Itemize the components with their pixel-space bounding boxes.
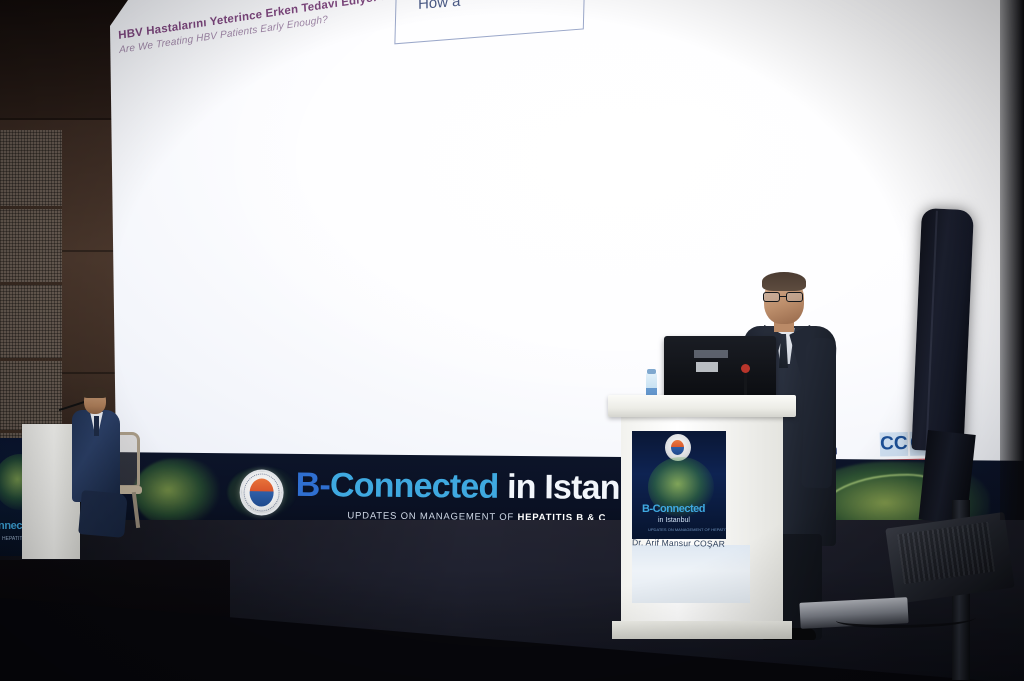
glasses-bridge xyxy=(780,296,787,297)
banner-title-b: B- xyxy=(296,466,331,504)
lectern-base xyxy=(612,621,792,639)
presenter-arm xyxy=(801,338,836,489)
monitor-rear-label xyxy=(694,350,728,358)
emblem-ring xyxy=(243,473,279,511)
water-bottle-cap xyxy=(647,369,656,374)
glasses-lens-left xyxy=(763,292,780,302)
society-emblem xyxy=(239,469,283,515)
presenter-hair xyxy=(762,272,806,291)
lectern-top-surface xyxy=(608,395,796,417)
chair-leg xyxy=(132,492,140,528)
lectern-nameplate xyxy=(632,545,750,603)
cc-logo-letter: CC xyxy=(880,432,908,457)
liver-graphic xyxy=(133,458,220,529)
line-array-loudspeaker xyxy=(911,208,974,452)
moderator-legs xyxy=(78,490,128,538)
presenter-glasses xyxy=(762,292,806,302)
water-bottle-label xyxy=(646,388,657,395)
moderator-tie xyxy=(94,416,99,436)
seated-moderator xyxy=(70,388,130,538)
mesh-panel-divider xyxy=(0,206,62,209)
lectern-emblem-inner xyxy=(671,440,684,455)
lectern-panel-subtitle: in Istanbul xyxy=(658,517,690,524)
conference-stage-scene: How a HBV Hastalarını Yeterince Erken Te… xyxy=(0,0,1024,681)
mesh-panel-divider xyxy=(0,358,62,361)
lectern: B-Connected in Istanbul UPDATES ON MANAG… xyxy=(608,395,796,645)
lectern-branding-panel: B-Connected in Istanbul UPDATES ON MANAG… xyxy=(632,431,726,539)
lectern-panel-title: B-Connected xyxy=(642,503,718,515)
speaker-nameplate-text: Dr. Arif Mansur COŞAR xyxy=(632,537,725,549)
microphone-head xyxy=(741,364,750,373)
loudspeaker-seam xyxy=(925,211,937,451)
moderator-hair xyxy=(83,387,107,398)
confidence-monitor xyxy=(664,336,776,398)
projection-screen xyxy=(110,0,1024,462)
right-edge-shadow xyxy=(1000,0,1024,520)
perforated-metal-panel xyxy=(0,130,62,460)
glasses-lens-right xyxy=(786,292,803,302)
mesh-panel-divider xyxy=(0,282,62,285)
lectern-panel-tagline: UPDATES ON MANAGEMENT OF HEPATITIS B & C xyxy=(648,527,726,532)
monitor-rear-sticker xyxy=(696,362,718,372)
banner-title-connected: Connected xyxy=(330,466,499,506)
